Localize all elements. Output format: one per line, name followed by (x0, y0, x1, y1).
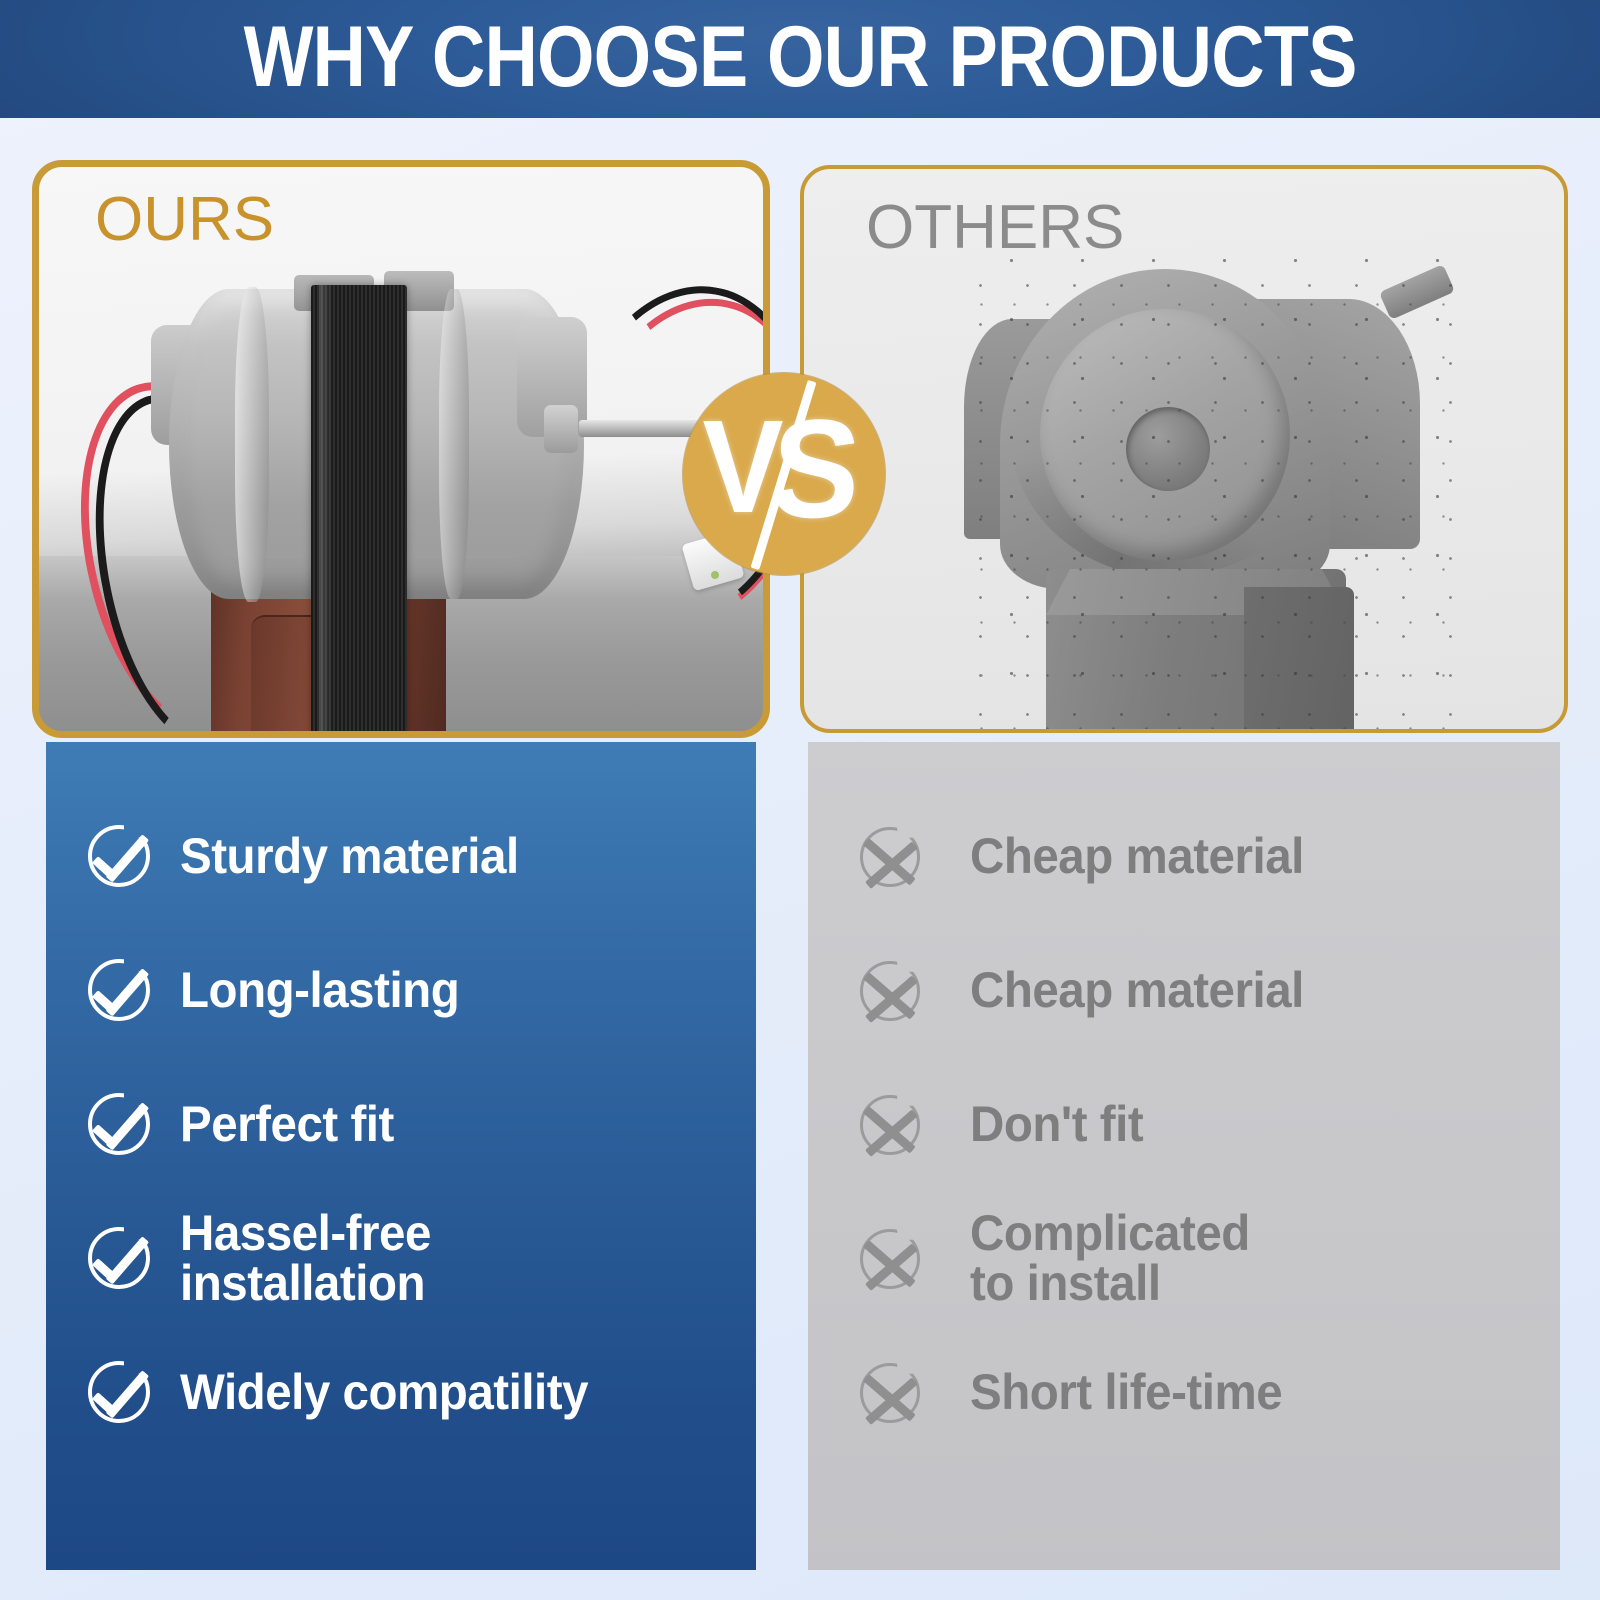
x-circle-icon (856, 953, 930, 1027)
feature-label: Widely compatility (180, 1367, 588, 1417)
vs-letters: V S (683, 373, 885, 575)
list-item: Complicated to install (808, 1206, 1560, 1310)
check-circle-icon (84, 819, 158, 893)
laminated-core-strap (311, 285, 407, 738)
check-circle-icon (84, 1221, 158, 1295)
feature-label: Cheap material (970, 831, 1304, 881)
list-item: Sturdy material (46, 804, 756, 908)
x-circle-icon (856, 1087, 930, 1161)
others-product-card: OTHERS (800, 165, 1568, 733)
x-circle-icon (856, 819, 930, 893)
page-title: WHY CHOOSE OUR PRODUCTS (243, 14, 1356, 104)
x-circle-icon (856, 1221, 930, 1295)
list-item: Widely compatility (46, 1340, 756, 1444)
ours-product-card: OURS (32, 160, 770, 738)
list-item: Cheap material (808, 804, 1560, 908)
bracket-lip (211, 733, 446, 738)
list-item: Don't fit (808, 1072, 1560, 1176)
check-circle-icon (84, 1087, 158, 1161)
list-item: Perfect fit (46, 1072, 756, 1176)
feature-label: Perfect fit (180, 1099, 394, 1149)
x-circle-icon (856, 1355, 930, 1429)
feature-label: Long-lasting (180, 965, 459, 1015)
vs-badge: V S (683, 373, 885, 575)
ours-card-label: OURS (95, 189, 274, 251)
list-item: Cheap material (808, 938, 1560, 1042)
feature-label: Sturdy material (180, 831, 519, 881)
others-card-label: OTHERS (866, 197, 1124, 259)
others-shaft-stub (1379, 264, 1455, 320)
feature-label: Hassel-free installation (180, 1208, 431, 1308)
check-circle-icon (84, 1355, 158, 1429)
others-feature-panel: Cheap material Cheap material Don't fit … (808, 742, 1560, 1570)
feature-label: Short life-time (970, 1367, 1282, 1417)
feature-label: Cheap material (970, 965, 1304, 1015)
feature-label: Don't fit (970, 1099, 1143, 1149)
shaft-nut (544, 405, 578, 453)
others-body-edge (1244, 587, 1354, 733)
motor-ring-b (439, 289, 469, 599)
motor-ring-a (235, 287, 269, 602)
list-item: Short life-time (808, 1340, 1560, 1444)
list-item: Hassel-free installation (46, 1206, 756, 1310)
others-feature-list: Cheap material Cheap material Don't fit … (808, 742, 1560, 1474)
feature-label: Complicated to install (970, 1208, 1250, 1308)
ours-feature-list: Sturdy material Long-lasting Perfect fit… (46, 742, 756, 1474)
check-circle-icon (84, 953, 158, 1027)
ours-feature-panel: Sturdy material Long-lasting Perfect fit… (46, 742, 756, 1570)
strap-highlight (319, 285, 333, 738)
list-item: Long-lasting (46, 938, 756, 1042)
page-header: WHY CHOOSE OUR PRODUCTS (0, 0, 1600, 118)
others-hub (1126, 407, 1210, 491)
